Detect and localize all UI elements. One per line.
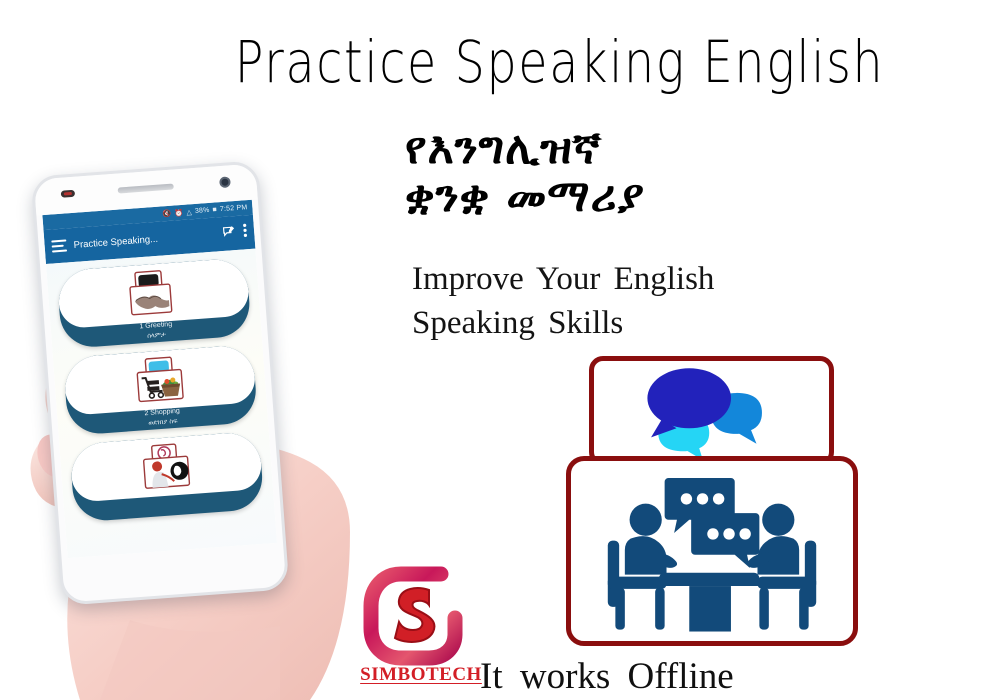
- offline-text: It works Offline: [480, 655, 734, 698]
- compose-icon[interactable]: [222, 224, 237, 244]
- list-item[interactable]: 1 Greeting ሰላምታ: [57, 257, 252, 349]
- shopping-basket-icon: [127, 355, 192, 405]
- battery-icon: ■: [212, 206, 217, 213]
- amharic-title-line-2: ቋንቋ መማሪያ: [405, 173, 875, 221]
- mute-icon: 🔇: [162, 209, 171, 218]
- three-speech-bubbles-icon: [594, 361, 829, 461]
- lesson-artwork: [69, 431, 263, 503]
- overflow-menu-icon[interactable]: [243, 223, 248, 242]
- phone-call-icon: [134, 442, 199, 492]
- promo-banner: Practice Speaking English የእንግሊዝኛ ቋንቋ መማ…: [0, 0, 1000, 700]
- tagline: Improve Your English Speaking Skills: [412, 258, 892, 346]
- phone-mockup: 🔇 ⏰ △ 38% ■ 7:52 PM Practice Speaking...: [10, 150, 360, 700]
- lesson-title-en: [75, 506, 264, 520]
- speech-bubbles-frame: [589, 356, 834, 466]
- signal-icon: △: [186, 208, 192, 216]
- lesson-list[interactable]: 1 Greeting ሰላምታ: [46, 249, 277, 559]
- handshake-icon: [121, 268, 186, 318]
- lesson-title-am: [75, 506, 264, 520]
- notification-led-icon: [61, 190, 75, 198]
- front-camera-icon: [219, 176, 231, 188]
- status-time: 7:52 PM: [220, 204, 248, 213]
- brand-name: SIMBOTECH: [355, 664, 487, 686]
- phone-screen: 🔇 ⏰ △ 38% ■ 7:52 PM Practice Speaking...: [42, 200, 277, 558]
- amharic-title-line-1: የእንግሊዝኛ: [405, 125, 875, 173]
- list-item[interactable]: [69, 431, 264, 523]
- hamburger-menu-icon[interactable]: [51, 239, 67, 252]
- conversation-frame: [566, 456, 858, 646]
- list-item[interactable]: 2 Shopping ወደገበያ ስፍ: [63, 344, 258, 436]
- alarm-icon: ⏰: [174, 208, 183, 217]
- amharic-title: የእንግሊዝኛ ቋንቋ መማሪያ: [405, 125, 875, 220]
- lesson-label: [75, 506, 264, 520]
- two-people-conversation-icon: [571, 461, 853, 641]
- tagline-line-2: Speaking Skills: [412, 302, 892, 346]
- app-bar-title: Practice Speaking...: [73, 229, 215, 250]
- earpiece-icon: [118, 183, 174, 193]
- brand-logo: SIMBOTECH: [355, 556, 487, 696]
- smartphone: 🔇 ⏰ △ 38% ■ 7:52 PM Practice Speaking...: [31, 160, 290, 606]
- simbotech-c-s-logo-icon: [355, 556, 487, 668]
- battery-percent: 38%: [195, 207, 210, 215]
- tagline-line-1: Improve Your English: [412, 258, 892, 302]
- page-title: Practice Speaking English: [235, 28, 825, 96]
